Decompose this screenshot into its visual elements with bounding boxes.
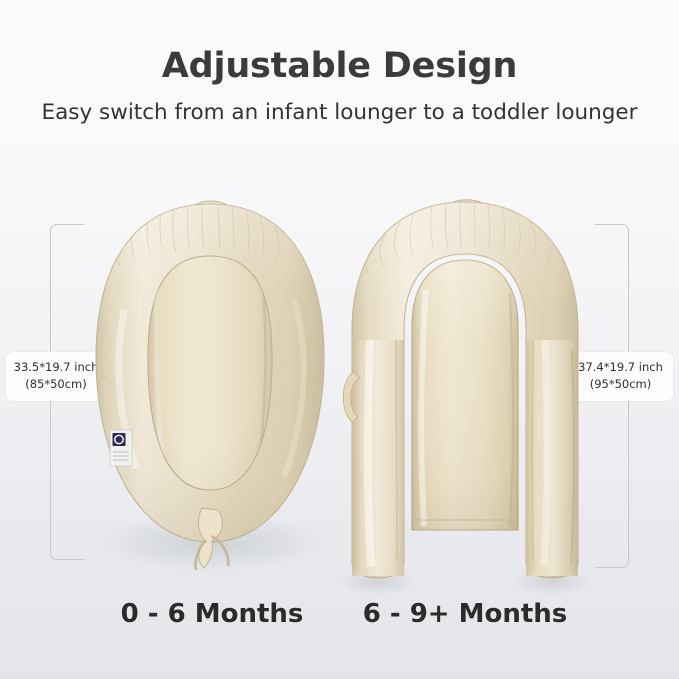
caption-infant-lounger: 0 - 6 Months [90,597,334,631]
caption-toddler-lounger: 6 - 9+ Months [340,597,590,631]
page-subtitle: Easy switch from an infant lounger to a … [0,98,679,128]
bumper-arm-right [526,340,578,580]
dimension-label-left-metric: (85*50cm) [13,376,99,393]
inner-mattress [412,260,518,530]
page-title: Adjustable Design [0,44,679,88]
care-tag [110,430,132,466]
product-image-infant-lounger-closed [88,190,332,580]
product-image-toddler-lounger-open [340,190,590,600]
dimension-label-left-inches: 33.5*19.7 inch [14,360,99,374]
infographic-canvas: Adjustable Design Easy switch from an in… [0,0,679,679]
dimension-label-right-inches: 37.4*19.7 inch [578,360,663,374]
inner-mattress [148,256,272,490]
